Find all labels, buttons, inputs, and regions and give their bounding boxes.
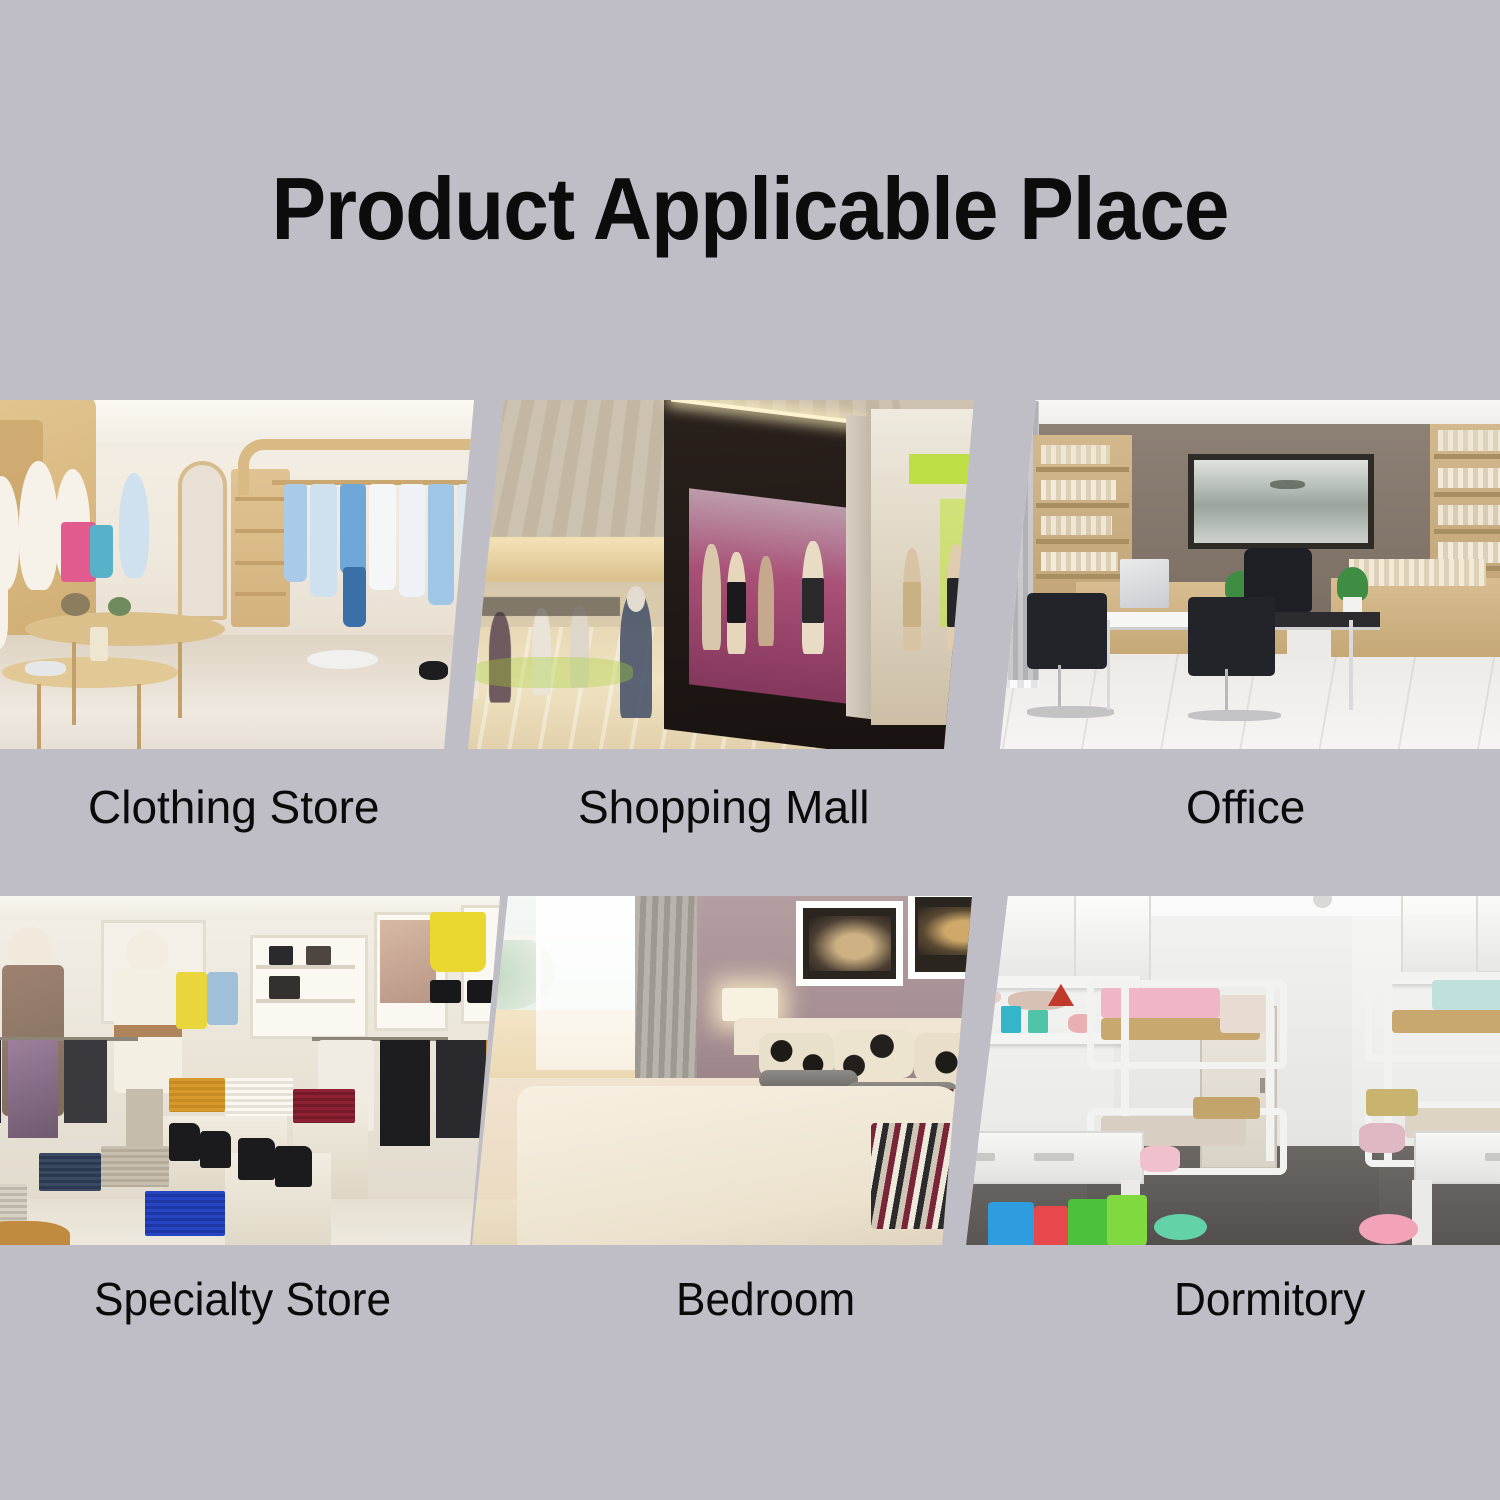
caption-specialty-store: Specialty Store [94, 1272, 391, 1326]
clothing-store-scene [0, 400, 474, 749]
shopping-mall-scene [468, 400, 974, 749]
office-scene [1000, 400, 1500, 749]
bedroom-scene [472, 896, 972, 1245]
photo-tile-specialty-store [0, 896, 500, 1245]
photo-tile-bedroom [472, 896, 972, 1245]
gallery-row-1 [0, 400, 1500, 749]
photo-tile-clothing-store [0, 400, 474, 749]
specialty-store-scene [0, 896, 500, 1245]
page-title: Product Applicable Place [53, 158, 1448, 260]
caption-dormitory: Dormitory [1174, 1272, 1365, 1326]
photo-tile-shopping-mall [468, 400, 974, 749]
caption-bedroom: Bedroom [676, 1272, 855, 1326]
caption-shopping-mall: Shopping Mall [578, 780, 870, 834]
gallery-row-2 [0, 896, 1500, 1245]
dormitory-scene [966, 896, 1500, 1245]
caption-office: Office [1186, 780, 1305, 834]
product-applicable-place-infographic: Product Applicable Place [0, 0, 1500, 1500]
caption-clothing-store: Clothing Store [88, 780, 380, 834]
photo-tile-office [1000, 400, 1500, 749]
photo-tile-dormitory [966, 896, 1500, 1245]
